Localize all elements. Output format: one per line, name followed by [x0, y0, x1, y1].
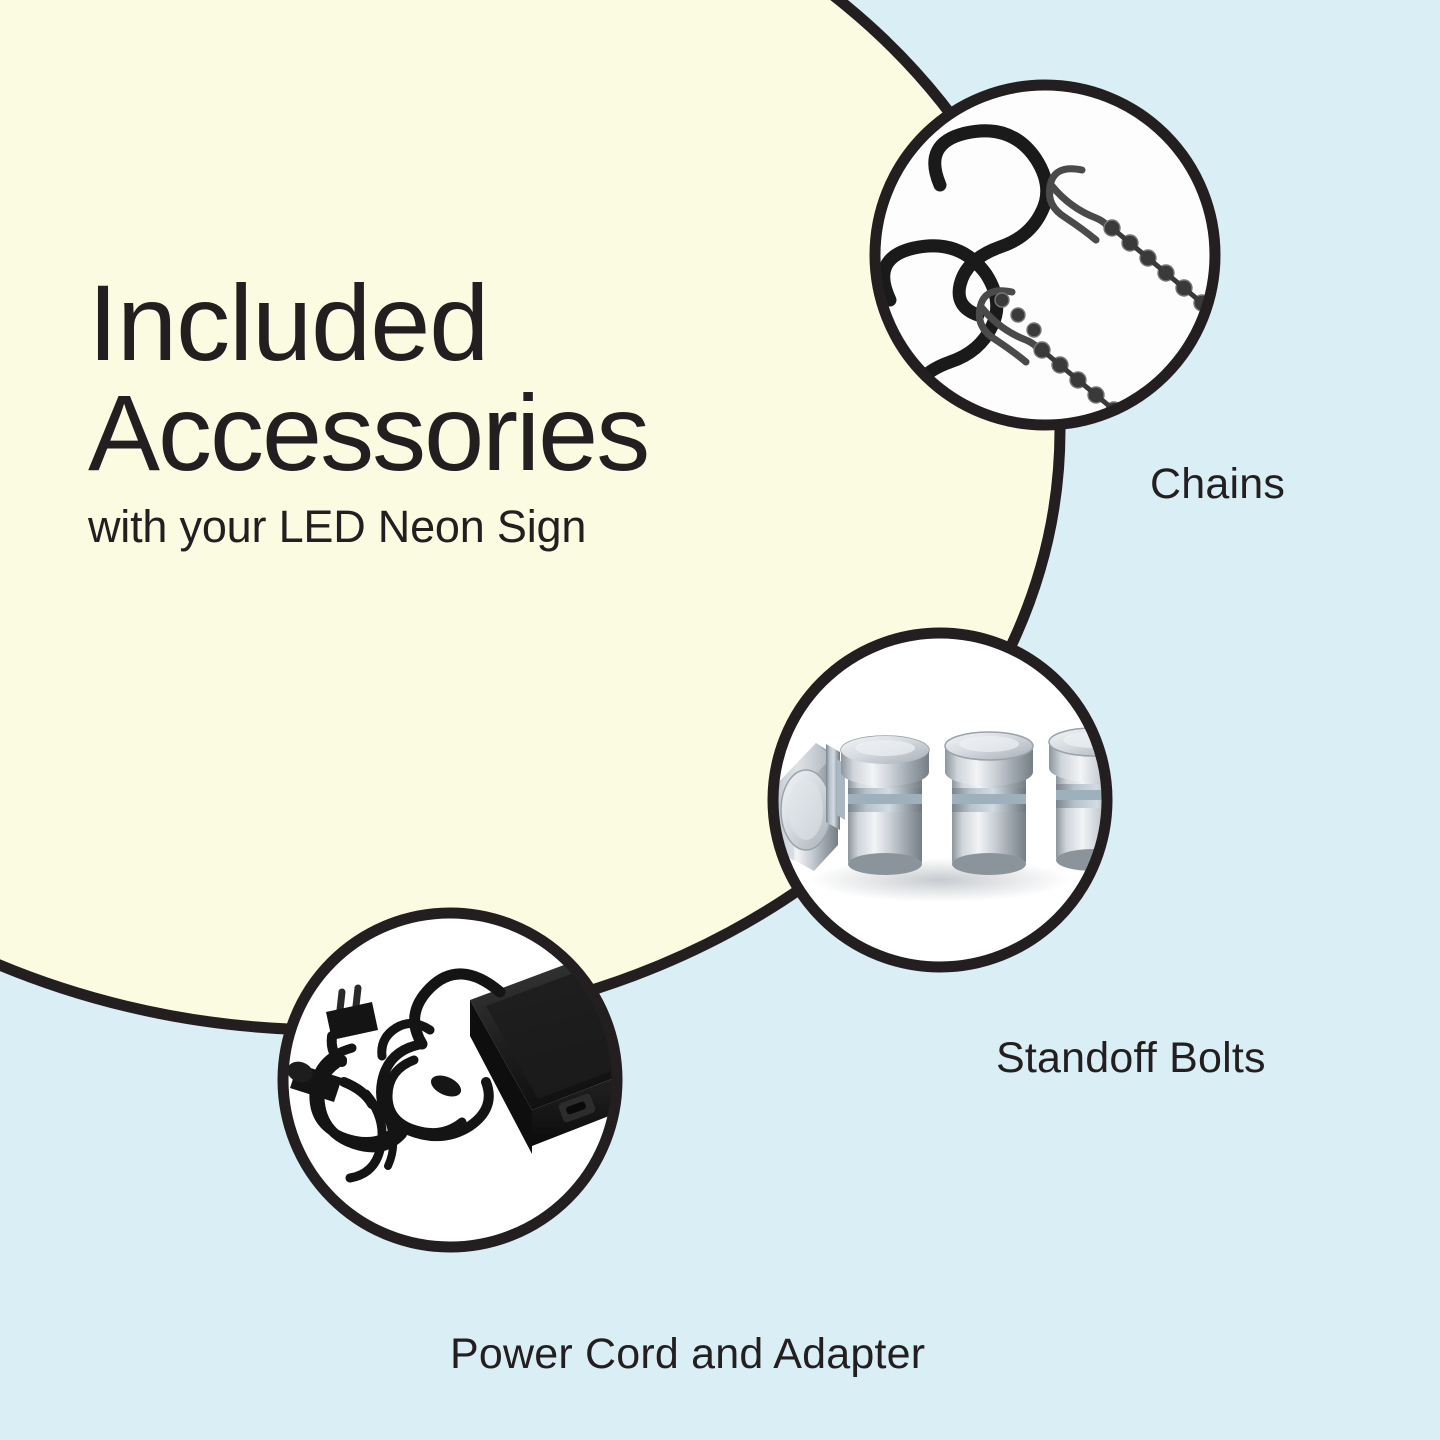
caption-power-cord: Power Cord and Adapter [450, 1330, 925, 1379]
caption-standoff-bolts: Standoff Bolts [996, 1034, 1266, 1083]
infographic-page: Included Accessories with your LED Neon … [0, 0, 1440, 1440]
scene-artwork [0, 0, 1440, 1440]
caption-chains: Chains [1150, 460, 1285, 509]
